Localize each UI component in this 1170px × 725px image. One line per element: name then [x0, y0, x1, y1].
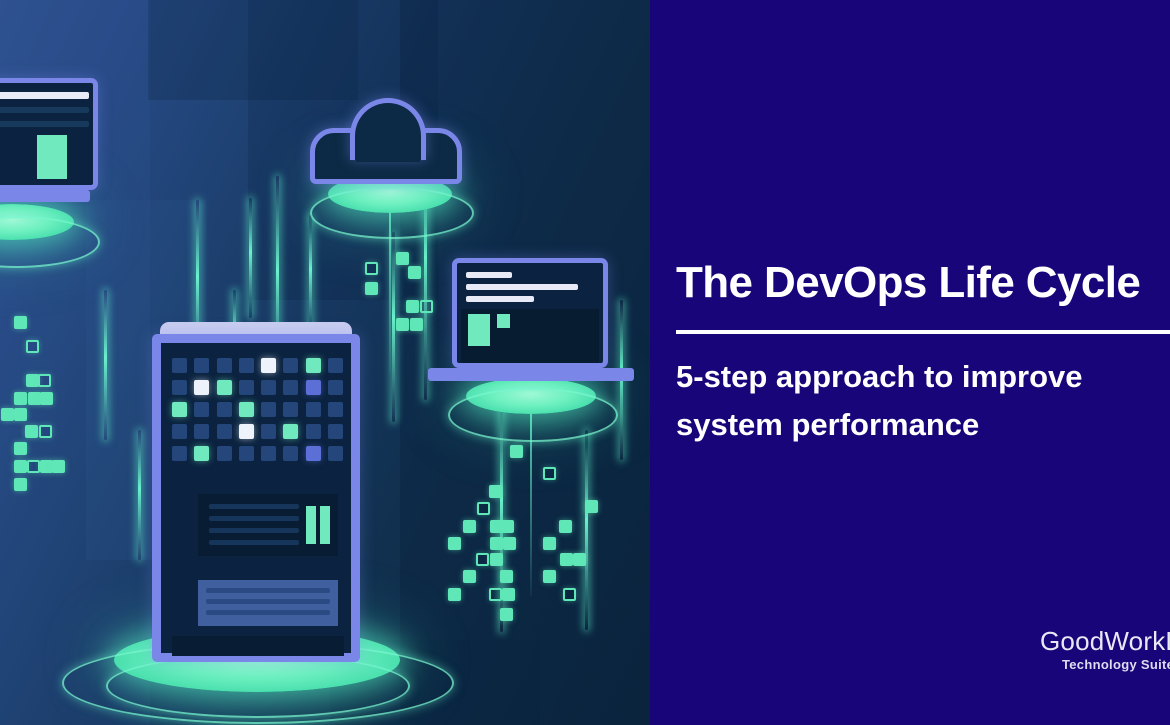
server-led-grid — [172, 358, 344, 461]
pixel-square — [543, 570, 556, 583]
server-led — [306, 424, 321, 439]
pixel-square — [52, 460, 65, 473]
laptop-base — [428, 368, 634, 381]
pixel-square — [408, 266, 421, 279]
server-led — [172, 424, 187, 439]
server-led — [172, 402, 187, 417]
subtitle-line-1: 5-step approach to improve — [676, 353, 1170, 401]
logo-wordmark: GoodWorkLabs — [1040, 628, 1170, 655]
page-subtitle: 5-step approach to improve system perfor… — [676, 353, 1170, 450]
server-led — [306, 380, 321, 395]
pixel-square — [448, 588, 461, 601]
pixel-square — [502, 588, 515, 601]
server-panel — [198, 494, 338, 556]
server-panel-line-4 — [209, 540, 299, 545]
pixel-square — [396, 252, 409, 265]
pixel-square — [500, 608, 513, 621]
server-footer-bar — [172, 636, 344, 656]
illustration-panel — [0, 0, 650, 725]
server-led — [194, 424, 209, 439]
subtitle-line-2: system performance — [676, 401, 1170, 449]
cloud-ring — [310, 187, 474, 239]
laptop-line-2 — [466, 284, 578, 290]
server-slot-line-1 — [206, 588, 330, 593]
light-streak — [138, 430, 141, 560]
pixel-square — [25, 425, 38, 438]
monitor-line-1 — [0, 92, 89, 99]
pixel-square — [365, 262, 378, 275]
server-led — [283, 380, 298, 395]
server-led — [283, 424, 298, 439]
pixel-square — [490, 553, 503, 566]
server-panel-line-2 — [209, 516, 299, 521]
server-led — [261, 424, 276, 439]
server-led — [217, 402, 232, 417]
pixel-square — [463, 520, 476, 533]
text-panel: The DevOps Life Cycle 5-step approach to… — [650, 0, 1170, 725]
pixel-square — [14, 478, 27, 491]
pixel-square — [563, 588, 576, 601]
pixel-square — [14, 316, 27, 329]
server-panel-bar-1 — [306, 506, 316, 544]
server-led — [283, 358, 298, 373]
laptop-platform — [448, 378, 614, 454]
server-led — [239, 358, 254, 373]
pixel-square — [477, 502, 490, 515]
pixel-square — [489, 485, 502, 498]
server-led — [217, 358, 232, 373]
monitor-ring — [0, 216, 100, 268]
server-led — [261, 380, 276, 395]
server-led — [217, 446, 232, 461]
server-led — [306, 446, 321, 461]
pixel-square — [510, 445, 523, 458]
server-led — [328, 380, 343, 395]
server-slots — [198, 580, 338, 626]
server-led — [261, 402, 276, 417]
pixel-square — [463, 570, 476, 583]
pixel-square — [396, 318, 409, 331]
laptop-icon — [452, 258, 608, 368]
pixel-square — [14, 442, 27, 455]
laptop-line-3 — [466, 296, 534, 302]
brand-logo: GoodWorkLabs Technology Suite — [1040, 628, 1170, 672]
server-led — [328, 402, 343, 417]
server-led — [194, 358, 209, 373]
server-panel-line-1 — [209, 504, 299, 509]
monitor-stand — [0, 190, 90, 202]
server-slot-line-2 — [206, 599, 330, 604]
server-led — [261, 358, 276, 373]
server-led — [217, 380, 232, 395]
laptop-block-large — [468, 314, 490, 346]
server-led — [172, 446, 187, 461]
server-led — [239, 424, 254, 439]
server-led — [239, 380, 254, 395]
cloud-icon — [310, 98, 462, 184]
pixel-square — [543, 467, 556, 480]
server-led — [239, 446, 254, 461]
pixel-square — [38, 374, 51, 387]
server-led — [328, 446, 343, 461]
pixel-square — [503, 537, 516, 550]
server-led — [306, 358, 321, 373]
server-panel-bar-2 — [320, 506, 330, 544]
server-led — [194, 380, 209, 395]
server-led — [217, 424, 232, 439]
pixel-square — [26, 340, 39, 353]
laptop-block-small — [497, 314, 510, 328]
laptop-line-1 — [466, 272, 512, 278]
server-led — [328, 424, 343, 439]
server-led — [239, 402, 254, 417]
server-led — [261, 446, 276, 461]
server-led — [283, 446, 298, 461]
light-streak — [104, 290, 107, 440]
pixel-square — [39, 425, 52, 438]
server-led — [328, 358, 343, 373]
monitor-line-2 — [0, 107, 89, 113]
cloud-platform — [310, 175, 470, 245]
light-streak — [585, 430, 588, 630]
pixel-square — [559, 520, 572, 533]
pixel-square — [543, 537, 556, 550]
server-led — [194, 446, 209, 461]
pixel-square — [573, 553, 586, 566]
pixel-square — [1, 408, 14, 421]
server-led — [283, 402, 298, 417]
pixel-square — [490, 537, 503, 550]
pixel-square — [476, 553, 489, 566]
pixel-square — [406, 300, 419, 313]
pixel-square — [40, 392, 53, 405]
monitor-platform — [0, 204, 96, 274]
monitor-line-3 — [0, 121, 89, 127]
pixel-square — [500, 570, 513, 583]
server-ring-inner — [106, 654, 410, 718]
laptop-ring — [448, 388, 618, 442]
monitor-block — [37, 135, 67, 179]
server-panel-line-3 — [209, 528, 299, 533]
cloud-join-patch — [356, 148, 420, 162]
devops-banner: The DevOps Life Cycle 5-step approach to… — [0, 0, 1170, 725]
pixel-square — [27, 460, 40, 473]
pixel-square — [585, 500, 598, 513]
pixel-square — [448, 537, 461, 550]
page-title: The DevOps Life Cycle — [676, 259, 1140, 307]
pixel-square — [560, 553, 573, 566]
server-led — [172, 358, 187, 373]
server-led — [172, 380, 187, 395]
title-divider — [676, 330, 1170, 334]
server-led — [194, 402, 209, 417]
pixel-square — [501, 520, 514, 533]
light-streak — [392, 232, 395, 422]
pixel-square — [14, 392, 27, 405]
server-tower-icon — [152, 322, 360, 662]
pixel-square — [14, 460, 27, 473]
pixel-square — [489, 588, 502, 601]
server-slot-line-3 — [206, 610, 330, 615]
pixel-square — [420, 300, 433, 313]
monitor-icon — [0, 78, 98, 190]
pixel-square — [14, 408, 27, 421]
pixel-square — [410, 318, 423, 331]
light-streak — [249, 198, 252, 318]
logo-tagline: Technology Suite — [1062, 657, 1170, 672]
pixel-square — [365, 282, 378, 295]
server-led — [306, 402, 321, 417]
